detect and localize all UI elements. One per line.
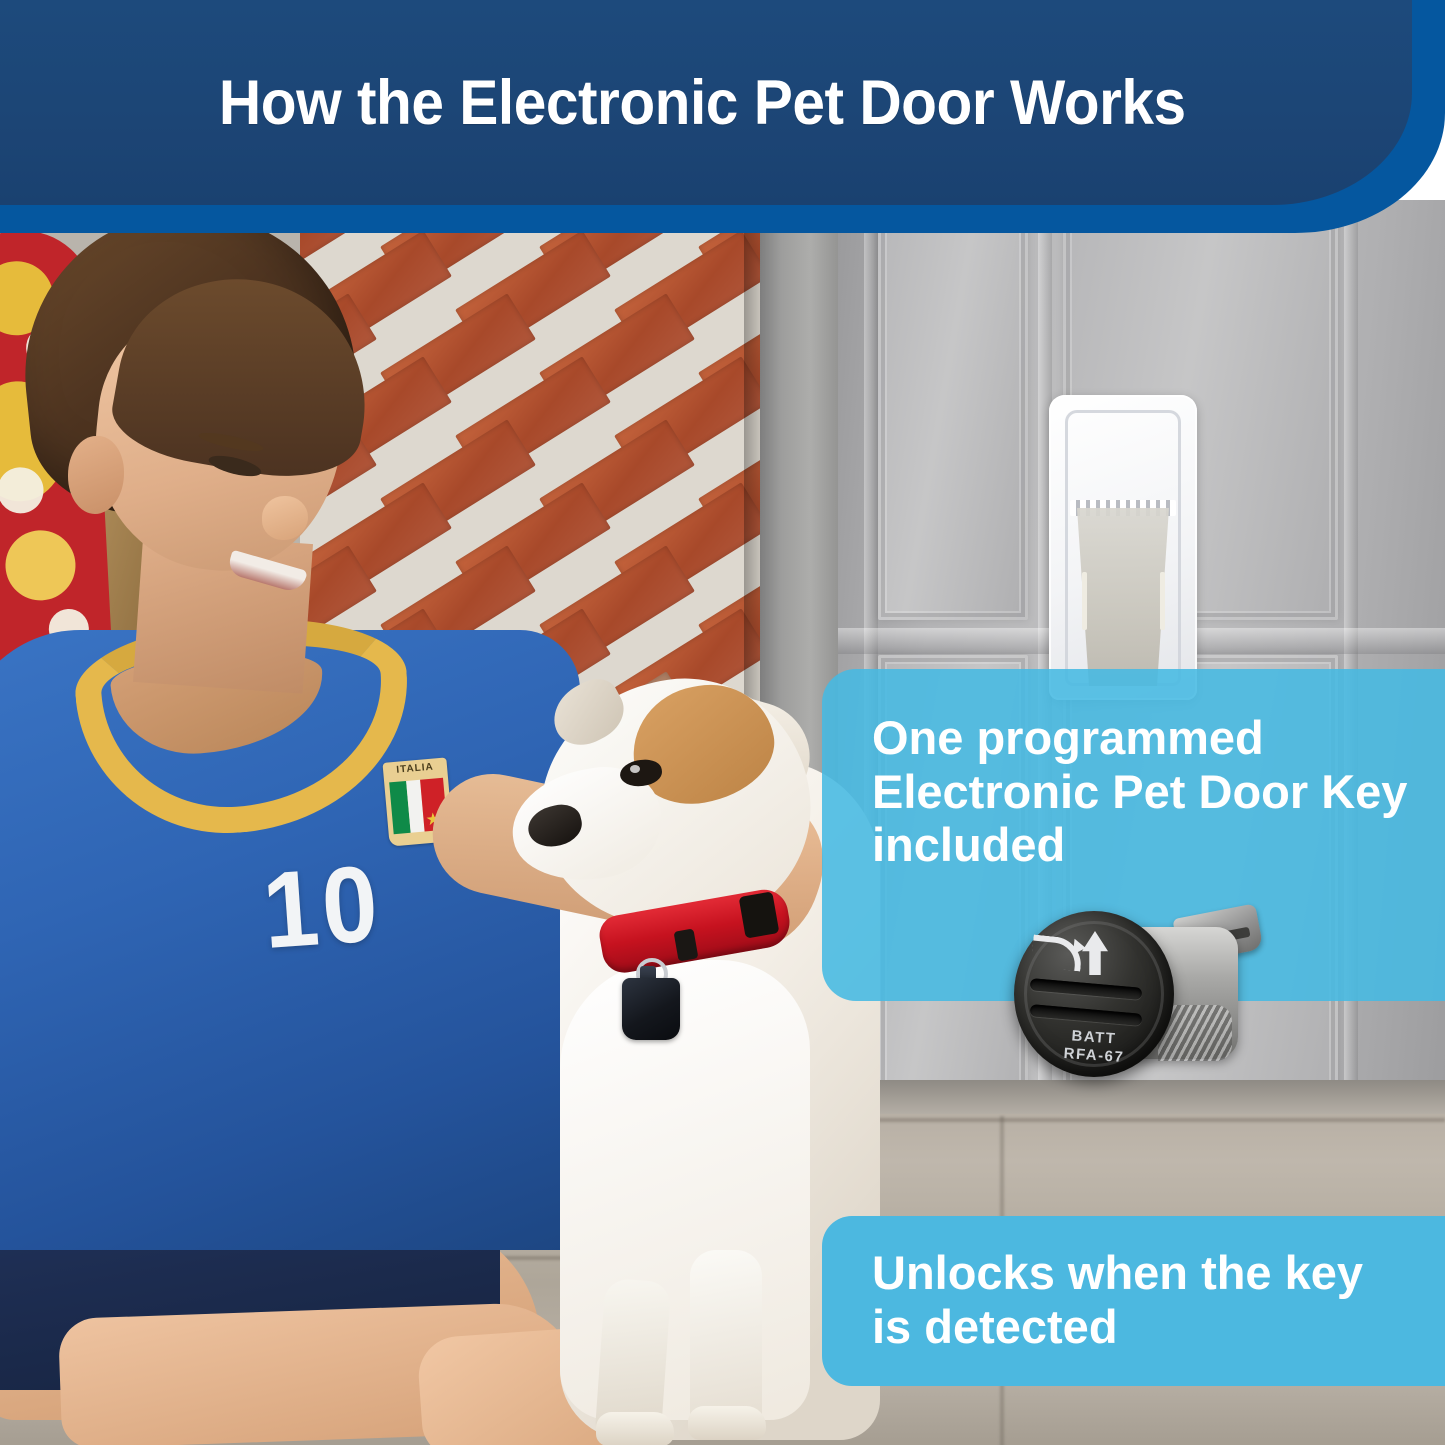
rotate-arrow-icon: [1030, 934, 1083, 971]
dog-collar-buckle: [739, 891, 780, 938]
pet-door-rail: [1082, 572, 1087, 630]
pillow-floral-motif: [4, 529, 78, 603]
callout-unlocks: Unlocks when the key is detected: [822, 1216, 1445, 1386]
dog-eye-highlight: [630, 765, 640, 773]
callout-unlocks-text: Unlocks when the key is detected: [872, 1246, 1363, 1353]
collar-key-tag: [622, 978, 680, 1040]
dog-chest: [560, 960, 810, 1420]
door-panel: [878, 200, 1028, 620]
dog-paw: [596, 1412, 674, 1445]
dog-paw: [688, 1406, 766, 1440]
jersey-number: 10: [259, 840, 385, 973]
pet-door-flap: [1073, 508, 1173, 686]
callout-key-included-text: One programmed Electronic Pet Door Key i…: [872, 711, 1407, 871]
infographic-root: 10 ITALIA ★: [0, 0, 1445, 1445]
jersey-crest-label: ITALIA: [383, 760, 448, 777]
electronic-key-device: BATT RFA-67: [1008, 905, 1258, 1105]
header: How the Electronic Pet Door Works: [0, 0, 1445, 240]
pet-door-rail: [1160, 572, 1165, 630]
page-title: How the Electronic Pet Door Works: [49, 0, 1362, 205]
